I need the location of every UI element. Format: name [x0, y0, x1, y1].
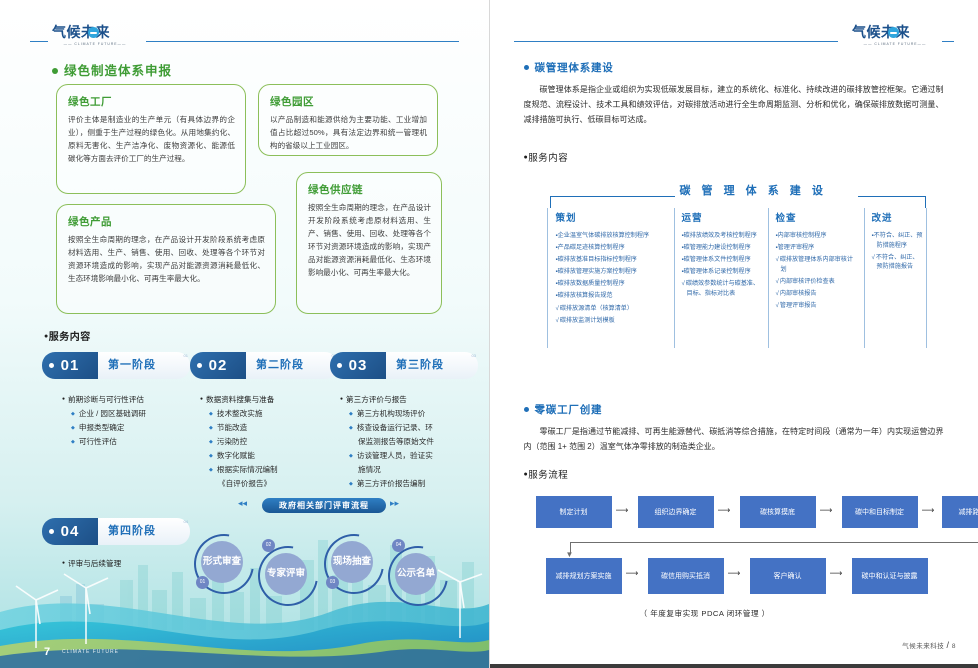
flow-arrow-icon: ⟶ [820, 505, 833, 516]
arrow-right-icon: ▸▸ [390, 498, 399, 509]
step-circle: 公示名单 [395, 553, 437, 595]
bullet-dot-icon [524, 407, 529, 412]
cmt-item: 不符合、纠正、预防措施报告 [872, 253, 924, 272]
page-left: 气候未来 CLIMATE FUTURE 绿色制造体系申报 绿色工厂 评价主体是制… [0, 0, 489, 668]
section1-paragraph: 碳管理体系是指企业或组织为实现低碳发展目标，建立的系统化、标准化、持续改进的碳排… [524, 82, 944, 127]
step-number: 04 [392, 539, 405, 552]
step-circle: 现场抽查 [331, 541, 373, 583]
phase-number: 02 [190, 352, 246, 379]
cmt-column-head: 策划 [556, 210, 668, 224]
phase-list-01: 前期诊断与可行性评估 企业 / 园区基础调研 申报类型确定 可行性评估 [62, 392, 212, 449]
phase-item-continuation: 《自评价报告》 [200, 477, 340, 491]
cmt-item: 碳管理能力建设控制程序 [682, 243, 764, 253]
phase-heading: 评审与后续管理 [62, 556, 212, 571]
page-number-right: 8 [952, 643, 956, 650]
cmt-bracket-right [925, 196, 926, 208]
cmt-divider [674, 208, 675, 348]
flow-box: 组织边界确定 [638, 496, 714, 528]
header-rule-left [30, 41, 48, 42]
brochure-spread: 气候未来 CLIMATE FUTURE 绿色制造体系申报 绿色工厂 评价主体是制… [0, 0, 978, 668]
phase-heading: 前期诊断与可行性评估 [62, 392, 212, 407]
flow-caption: （ 年度复审实现 PDCA 闭环管理 ） [640, 608, 770, 619]
phase-item: 根据实际情况编制 [200, 463, 340, 477]
phase-tag-04[interactable]: 04 第四阶段 04 [42, 518, 190, 548]
cmt-bracket-left [550, 196, 551, 208]
cmt-divider [768, 208, 769, 348]
page-right: 气候未来 CLIMATE FUTURE 碳管理体系建设 碳管理体系是指企业或组织… [489, 0, 978, 668]
green-box-body: 评价主体是制造业的生产单元（有具体边界的企业），侧重于生产过程的绿色化。从用地集… [68, 113, 235, 165]
flow-arrow-icon: ⟶ [718, 505, 731, 516]
step-line1: 公示 [397, 568, 416, 580]
cmt-column-check: 检查 内部审核控制程序 管理评审程序 碳排放管理体系内部审核计划 内部审核评价检… [776, 210, 858, 313]
flow-arrow-icon: ⟶ [922, 505, 935, 516]
step-line1: 形式 [203, 556, 222, 568]
flow-box: 碳中和认证与披露 [852, 558, 928, 594]
bullet-dot-icon [524, 65, 529, 70]
cmt-item: 不符合、纠正、预防措施程序 [872, 231, 924, 250]
phase-number: 04 [42, 518, 98, 545]
cmt-item: 碳排放核算报告规范 [556, 291, 668, 301]
phase-heading: 数据资料搜集与准备 [200, 392, 340, 407]
step-line2: 审查 [222, 556, 241, 568]
cmt-divider [926, 208, 927, 348]
service-flow-label: ●服务流程 [524, 467, 569, 481]
phase-corner-number: 03 [472, 353, 476, 358]
phase-tag-03[interactable]: 03 第三阶段 03 [330, 352, 478, 382]
step-circle: 形式审查 [201, 541, 243, 583]
phase-item: 节能改造 [200, 421, 340, 435]
phase-number: 03 [330, 352, 386, 379]
cmt-divider [864, 208, 865, 348]
phase-corner-number: 01 [184, 353, 188, 358]
cmt-item: 内部审核报告 [776, 289, 858, 299]
flow-box: 客户确认 [750, 558, 826, 594]
cmt-item: 管理评审程序 [776, 243, 858, 253]
gov-review-flow-label: 政府相关部门评审流程 [262, 498, 386, 513]
cmt-item: 企业温室气体碳排放核算控制程序 [556, 231, 668, 241]
green-box-body: 以产品制造和能源供给为主要功能、工业增加值占比超过50%，具有法定边界和统一管理… [270, 113, 427, 152]
cmt-item: 碳排放管理体系内部审核计划 [776, 255, 858, 274]
phase-label: 第三阶段 [386, 352, 478, 379]
green-box-supply-chain: 绿色供应链 按照全生命周期的理念，在产品设计开发阶段系统考虑原材料选用、生产、销… [296, 172, 442, 314]
phase-item-continuation: 施情况 [340, 463, 480, 477]
section2-paragraph: 零碳工厂是指通过节能减排、可再生能源替代、碳抵消等综合措施，在特定时间段（通常为… [524, 424, 944, 454]
phase-item: 企业 / 园区基础调研 [62, 407, 212, 421]
phase-item-continuation: 保监测报告等原始文件 [340, 435, 480, 449]
green-box-body: 按照全生命周期的理念，在产品设计开发阶段系统考虑原材料选用、生产、销售、使用、回… [68, 233, 265, 285]
cmt-item: 产品碳足迹核算控制程序 [556, 243, 668, 253]
header-left: 气候未来 CLIMATE FUTURE [0, 26, 489, 58]
cmt-rule-left [550, 196, 675, 197]
green-box-factory: 绿色工厂 评价主体是制造业的生产单元（有具体边界的企业），侧重于生产过程的绿色化… [56, 84, 246, 194]
bullet-dot-icon [52, 68, 58, 74]
cmt-column-list: 不符合、纠正、预防措施程序 不符合、纠正、预防措施报告 [872, 231, 924, 272]
section-title-text: 碳管理体系建设 [535, 62, 614, 74]
logo-climate-future: 气候未来 CLIMATE FUTURE [852, 26, 938, 54]
flow-box: 碳中和目标制定 [842, 496, 918, 528]
phase-list-03: 第三方评价与报告 第三方机构现场评价 核查设备运行记录、环 保监测报告等原始文件… [340, 392, 480, 491]
step-line2: 名单 [416, 568, 435, 580]
cmt-rule-right [858, 196, 926, 197]
cmt-column-head: 运营 [682, 210, 764, 224]
phase-item: 污染防控 [200, 435, 340, 449]
cmt-item: 碳排放基准目标指标控制程序 [556, 255, 668, 265]
phase-tag-02[interactable]: 02 第二阶段 02 [190, 352, 338, 382]
arrow-left-icon: ◂◂ [238, 498, 247, 509]
step-number: 03 [326, 576, 339, 589]
header-rule-right [942, 41, 954, 42]
cmt-divider [547, 208, 548, 348]
step-number: 01 [196, 576, 209, 589]
phase-label: 第二阶段 [246, 352, 338, 379]
cmt-column-improve: 改进 不符合、纠正、预防措施程序 不符合、纠正、预防措施报告 [872, 210, 924, 274]
phase-label: 第一阶段 [98, 352, 190, 379]
phase-item: 第三方评价报告编制 [340, 477, 480, 491]
cmt-column-list: 企业温室气体碳排放核算控制程序 产品碳足迹核算控制程序 碳排放基准目标指标控制程… [556, 231, 668, 325]
globe-icon [888, 27, 899, 38]
globe-icon [88, 27, 99, 38]
green-box-product: 绿色产品 按照全生命周期的理念，在产品设计开发阶段系统考虑原材料选用、生产、销售… [56, 204, 276, 314]
cmt-item: 碳排放源清单（核算清单） [556, 304, 668, 314]
cmt-item: 内部审核评价检查表 [776, 277, 858, 287]
phase-list-04: 评审与后续管理 [62, 556, 212, 571]
flow-arrow-icon: ⟶ [616, 505, 629, 516]
page-number-left: 7 [44, 646, 50, 658]
phase-list-02: 数据资料搜集与准备 技术整改实施 节能改造 污染防控 数字化赋能 根据实际情况编… [200, 392, 340, 491]
step-number: 02 [262, 539, 275, 552]
page-title-green-manufacturing: 绿色制造体系申报 [52, 60, 172, 79]
green-box-body: 按照全生命周期的理念，在产品设计开发阶段系统考虑原材料选用、生产、销售、使用、回… [308, 201, 431, 279]
flow-arrow-icon: ⟶ [626, 568, 639, 579]
footer-right: 气候未来科技 / 8 [902, 640, 956, 650]
green-box-title: 绿色园区 [270, 94, 427, 109]
header-rule-left [514, 41, 839, 42]
flow-arrow-icon: ⟶ [728, 568, 741, 579]
phase-item: 技术整改实施 [200, 407, 340, 421]
cmt-item: 碳管理体系记录控制程序 [682, 267, 764, 277]
phase-item: 第三方机构现场评价 [340, 407, 480, 421]
cmt-item: 碳绩效参数统计与碳基准、目标、指标对比表 [682, 279, 764, 298]
footer-en-left: CLIMATE FUTURE [62, 649, 119, 655]
cmt-column-head: 检查 [776, 210, 858, 224]
step-circle: 专家评审 [265, 553, 307, 595]
page-title-text: 绿色制造体系申报 [64, 64, 172, 78]
cmt-column-head: 改进 [872, 210, 924, 224]
green-box-park: 绿色园区 以产品制造和能源供给为主要功能、工业增加值占比超过50%，具有法定边界… [258, 84, 438, 156]
logo-climate-future: 气候未来 CLIMATE FUTURE [52, 26, 138, 54]
flow-box: 制定计划 [536, 496, 612, 528]
cmt-item: 碳排放绩效及考核控制程序 [682, 231, 764, 241]
section-title-text: 零碳工厂创建 [535, 404, 603, 416]
logo-text-en: CLIMATE FUTURE [52, 42, 138, 46]
section-title-zero-carbon: 零碳工厂创建 [524, 402, 603, 417]
step-line2: 评审 [286, 568, 305, 580]
flow-box: 碳核算摸底 [740, 496, 816, 528]
cmt-column-operate: 运营 碳排放绩效及考核控制程序 碳管理能力建设控制程序 碳管理体系文件控制程序 … [682, 210, 764, 301]
step-line2: 抽查 [352, 556, 371, 568]
phase-number: 01 [42, 352, 98, 379]
green-box-title: 绿色工厂 [68, 94, 235, 109]
cmt-column-plan: 策划 企业温室气体碳排放核算控制程序 产品碳足迹核算控制程序 碳排放基准目标指标… [556, 210, 668, 328]
cmt-item: 碳管理体系文件控制程序 [682, 255, 764, 265]
footer-separator: / [947, 640, 950, 650]
flow-connector [570, 542, 978, 543]
phase-tag-01[interactable]: 01 第一阶段 01 [42, 352, 190, 382]
step-line1: 现场 [333, 556, 352, 568]
cmt-item: 碳排放监测计划模板 [556, 316, 668, 326]
green-box-title: 绿色供应链 [308, 182, 431, 197]
cmt-item: 内部审核控制程序 [776, 231, 858, 241]
flow-box: 减排规划方案实施 [546, 558, 622, 594]
phase-heading: 第三方评价与报告 [340, 392, 480, 407]
flow-box: 碳信用购买抵消 [648, 558, 724, 594]
phase-label: 第四阶段 [98, 518, 190, 545]
cmt-column-list: 内部审核控制程序 管理评审程序 碳排放管理体系内部审核计划 内部审核评价检查表 … [776, 231, 858, 311]
header-right: 气候未来 CLIMATE FUTURE [490, 26, 978, 58]
section-title-carbon-mgmt: 碳管理体系建设 [524, 60, 614, 75]
cmt-item: 碳排放管理实施方案控制程序 [556, 267, 668, 277]
flow-box: 减排路径规划 [942, 496, 978, 528]
phase-item: 访谈管理人员，验证实 [340, 449, 480, 463]
cmt-item: 碳排放数据质量控制程序 [556, 279, 668, 289]
footer-brand: 气候未来科技 [902, 643, 944, 650]
phase-item: 数字化赋能 [200, 449, 340, 463]
flow-arrow-icon: ⟶ [830, 568, 843, 579]
step-line1: 专家 [267, 568, 286, 580]
green-box-title: 绿色产品 [68, 214, 265, 229]
cmt-title: 碳 管 理 体 系 建 设 [680, 182, 827, 198]
phase-item: 申报类型确定 [62, 421, 212, 435]
service-content-label-right: ●服务内容 [524, 150, 569, 164]
cmt-item: 管理评审报告 [776, 301, 858, 311]
cmt-column-list: 碳排放绩效及考核控制程序 碳管理能力建设控制程序 碳管理体系文件控制程序 碳管理… [682, 231, 764, 299]
phase-item: 可行性评估 [62, 435, 212, 449]
phase-item: 核查设备运行记录、环 [340, 421, 480, 435]
service-content-label-left: ●服务内容 [44, 328, 91, 343]
header-rule-right [146, 41, 459, 42]
footer-bar [490, 664, 978, 668]
phase-corner-number: 04 [184, 519, 188, 524]
logo-text-en: CLIMATE FUTURE [852, 42, 938, 46]
